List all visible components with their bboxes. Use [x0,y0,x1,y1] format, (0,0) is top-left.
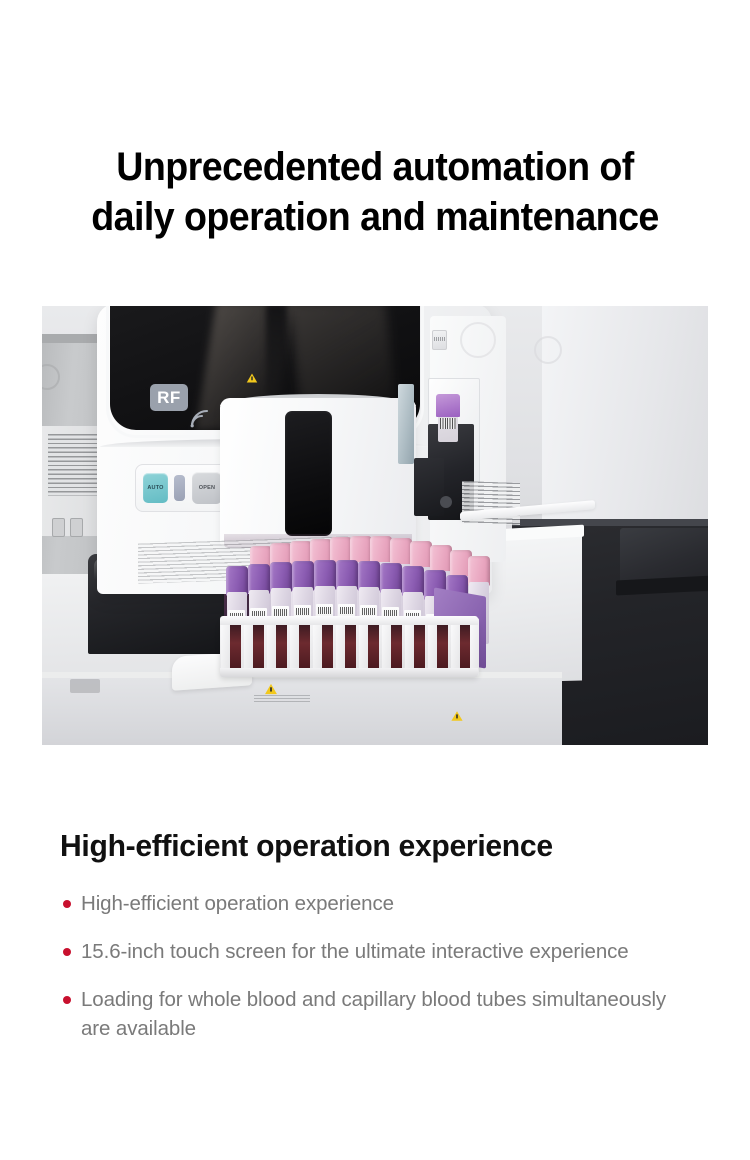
photo-scene: RF AUTO OPEN [42,306,708,745]
status-indicator [174,475,185,501]
warning-triangle-icon [247,374,258,383]
page-title: Unprecedented automation of daily operat… [23,142,728,242]
list-item-label: 15.6-inch touch screen for the ultimate … [81,940,629,963]
loaded-tube-barcode [440,418,456,429]
connector-port [70,518,83,537]
list-item-label: Loading for whole blood and capillary bl… [81,988,666,1040]
bench-sticker [70,679,100,693]
list-item: Loading for whole blood and capillary bl… [60,985,690,1043]
bullet-dot-icon [63,996,71,1004]
sample-tube-rack [212,552,502,682]
section-heading: High-efficient operation experience [60,828,553,864]
connector-port [52,518,65,537]
dark-counter-edge [512,519,708,526]
feature-list: High-efficient operation experience 15.6… [60,889,690,1062]
loader-arm [414,458,444,516]
page-title-line-2: daily operation and maintenance [23,192,728,242]
open-button[interactable]: OPEN [192,472,222,504]
product-feature-page: Unprecedented automation of daily operat… [0,0,750,1160]
loaded-tube-cap [436,394,460,417]
rf-badge: RF [150,384,188,411]
bullet-dot-icon [63,948,71,956]
list-item: 15.6-inch touch screen for the ultimate … [60,937,690,966]
list-item-label: High-efficient operation experience [81,892,394,915]
bullet-dot-icon [63,900,71,908]
page-title-line-1: Unprecedented automation of [23,142,728,192]
loader-glass-column [398,384,414,464]
product-photo: RF AUTO OPEN [42,306,708,745]
rack-rail-bottom [220,668,478,677]
module-label-text [434,337,445,341]
warning-triangle-icon [265,684,277,694]
drawer-sensor-panel [285,411,332,536]
ring-decoration-icon [534,336,562,364]
auto-button[interactable]: AUTO [143,473,168,503]
loader-knob [440,496,452,508]
list-item: High-efficient operation experience [60,889,690,918]
warning-label-text [254,695,310,703]
rf-signal-waves-icon [188,406,212,430]
ring-decoration-icon [460,322,496,358]
warning-triangle-icon [451,711,462,721]
rack-rail-top [220,616,478,625]
bench-front-face [42,678,562,745]
